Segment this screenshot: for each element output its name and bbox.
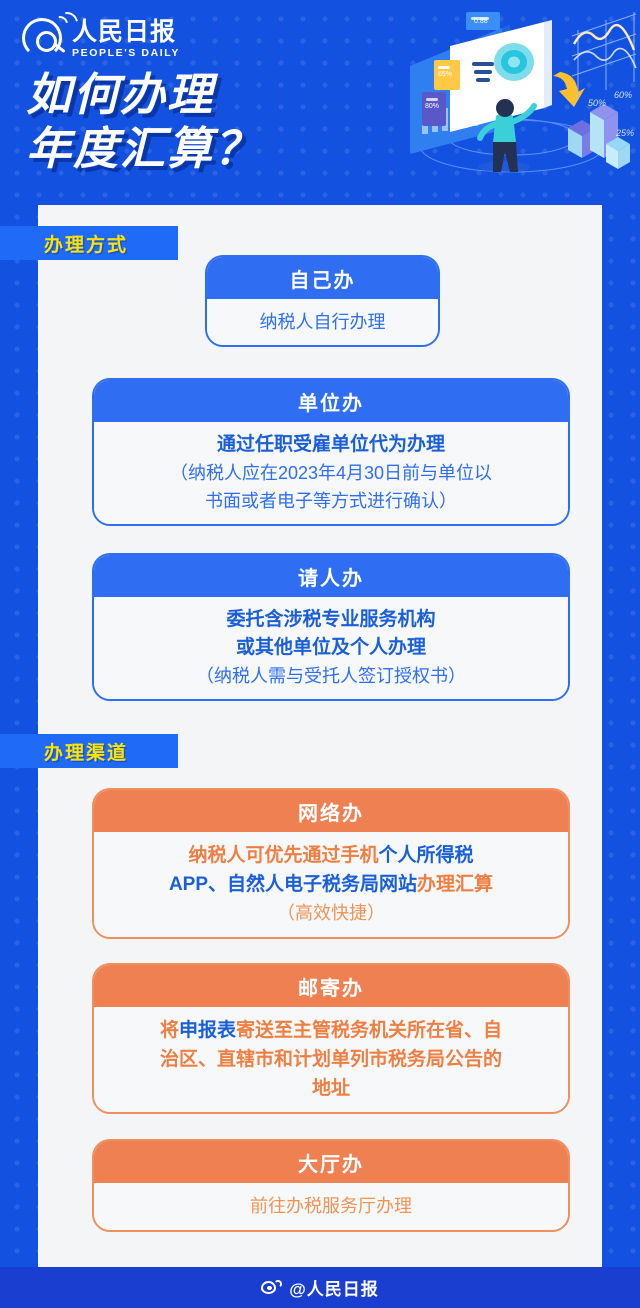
card-line: 或其他单位及个人办理 [236,634,426,662]
card-line: 治区、直辖市和计划单列市税务局公告的 [160,1045,502,1074]
card-body: 委托含涉税专业服务机构 或其他单位及个人办理 （纳税人需与受托人签订授权书） [94,597,568,699]
card-title: 请人办 [94,555,568,597]
card-title: 自己办 [207,257,438,299]
card-line: 纳税人自行办理 [260,308,386,336]
card-line: 将申报表寄送至主管税务机关所在省、自 [160,1016,502,1045]
footer: @人民日报 [0,1267,640,1308]
section-header-channels: 办理渠道 [0,734,178,768]
header: 人民日报 PEOPLE'S DAILY 如何办理 年度汇算？ [0,0,640,205]
card-line: 书面或者电子等方式进行确认） [205,487,457,515]
card-body: 通过任职受雇单位代为办理 （纳税人应在2023年4月30日前与单位以 书面或者电… [94,422,568,524]
logo-name-cn: 人民日报 [72,18,176,46]
page-title-line-2: 年度汇算？ [26,122,406,176]
svg-text:60%: 60% [614,90,632,100]
card-highlight-segment: 个人所得税 [379,845,474,866]
card-body: 前往办税服务厅办理 [94,1183,568,1230]
card-text-segment: 办理汇算 [417,874,493,895]
card-text-segment: 将 [160,1020,179,1041]
card-body: 将申报表寄送至主管税务机关所在省、自 治区、直辖市和计划单列市税务局公告的 地址 [94,1007,568,1112]
card-line: APP、自然人电子税务局网站办理汇算 [169,870,493,899]
card-line: 纳税人可优先通过手机个人所得税 [188,841,473,870]
section-title: 办理方式 [44,230,128,257]
card-line: 前往办税服务厅办理 [250,1192,412,1221]
card-line: 地址 [312,1074,350,1103]
svg-text:80%: 80% [425,103,439,110]
card-title: 大厅办 [94,1141,568,1183]
weibo-icon [261,1280,282,1296]
card-note: （高效快捷） [277,899,385,928]
card-line: 通过任职受雇单位代为办理 [217,431,445,459]
card-online-channel[interactable]: 网络办 纳税人可优先通过手机个人所得税 APP、自然人电子税务局网站办理汇算 （… [92,788,570,939]
svg-text:50%: 50% [588,98,606,108]
svg-text:25%: 25% [615,128,634,138]
svg-text:0.88: 0.88 [474,18,488,25]
peoples-daily-logo: 人民日报 PEOPLE'S DAILY [22,16,172,64]
card-agent-service[interactable]: 请人办 委托含涉税专业服务机构 或其他单位及个人办理 （纳税人需与受托人签订授权… [92,553,570,701]
card-title: 单位办 [94,380,568,422]
card-mail-channel[interactable]: 邮寄办 将申报表寄送至主管税务机关所在省、自 治区、直辖市和计划单列市税务局公告… [92,963,570,1114]
footer-account: @人民日报 [289,1275,379,1300]
card-highlight-segment: 申报表 [179,1020,236,1041]
section-header-methods: 办理方式 [0,226,178,260]
card-line: 委托含涉税专业服务机构 [226,606,435,634]
infographic-page: 人民日报 PEOPLE'S DAILY 如何办理 年度汇算？ [0,0,640,1308]
card-title: 网络办 [94,790,568,832]
card-line: （纳税人需与受托人签订授权书） [196,662,466,690]
card-text-segment: 寄送至主管税务机关所在省、自 [236,1020,502,1041]
card-line: （纳税人应在2023年4月30日前与单位以 [170,459,492,487]
card-body: 纳税人可优先通过手机个人所得税 APP、自然人电子税务局网站办理汇算 （高效快捷… [94,832,568,937]
card-text-segment: 纳税人可优先通过手机 [188,845,378,866]
page-title-line-1: 如何办理 [26,68,406,122]
page-title: 如何办理 年度汇算？ [26,68,406,176]
card-body: 纳税人自行办理 [207,299,438,345]
section-title: 办理渠道 [44,738,128,765]
data-dashboard-illustration: 50% 60% 25% 0.88 65% 80% [392,4,640,190]
card-title: 邮寄办 [94,965,568,1007]
card-self-service[interactable]: 自己办 纳税人自行办理 [205,255,440,347]
logo-name-en: PEOPLE'S DAILY [72,47,180,59]
svg-text:65%: 65% [438,71,452,78]
card-hall-channel[interactable]: 大厅办 前往办税服务厅办理 [92,1139,570,1232]
card-employer-service[interactable]: 单位办 通过任职受雇单位代为办理 （纳税人应在2023年4月30日前与单位以 书… [92,378,570,526]
card-highlight-segment: APP、自然人电子税务局网站 [169,874,417,895]
